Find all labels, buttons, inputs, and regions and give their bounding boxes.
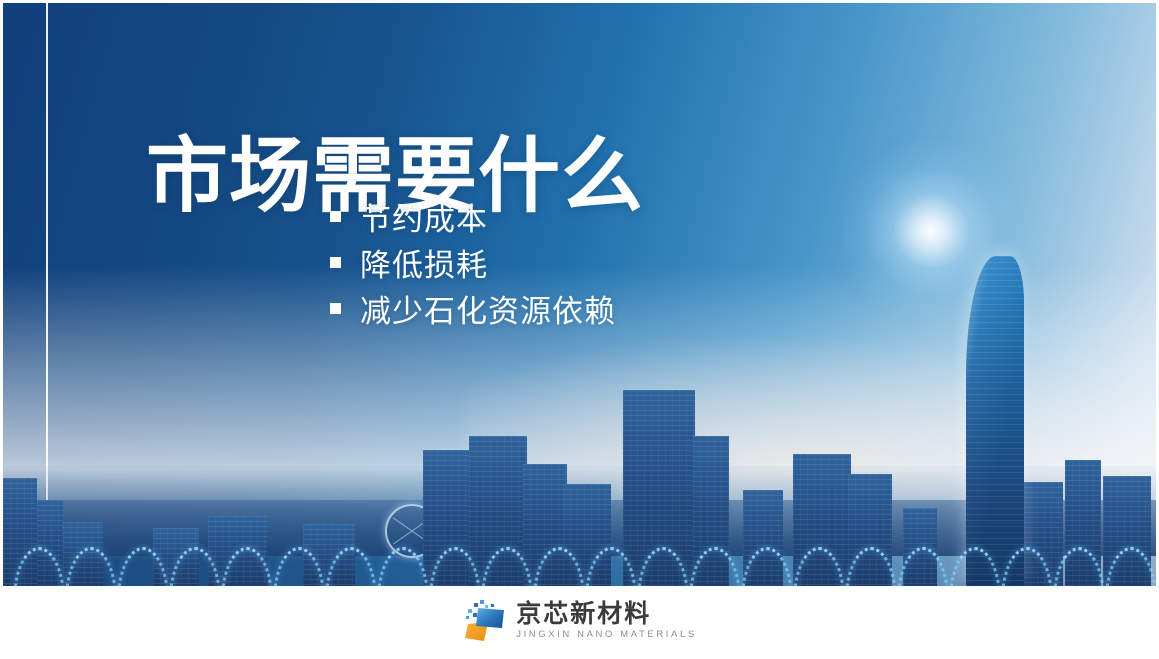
bullet-label: 节约成本 xyxy=(360,194,488,239)
list-item: 降低损耗 xyxy=(330,239,616,285)
bullet-label: 降低损耗 xyxy=(360,240,488,285)
square-bullet-icon xyxy=(330,303,341,314)
cityscape xyxy=(3,356,1156,586)
list-item: 减少石化资源依赖 xyxy=(330,285,616,331)
logo-text-block: 京芯新材料 JINGXIN NANO MATERIALS xyxy=(516,601,697,642)
square-bullet-icon xyxy=(330,211,341,222)
bullet-list: 节约成本 降低损耗 减少石化资源依赖 xyxy=(330,193,616,331)
presentation-slide: 市场需要什么 节约成本 降低损耗 减少石化资源依赖 xyxy=(0,0,1159,659)
glowing-dot-arcs xyxy=(3,494,1156,586)
company-logo: 京芯新材料 JINGXIN NANO MATERIALS xyxy=(462,600,697,642)
jingxin-logo-mark-icon xyxy=(462,600,506,642)
square-bullet-icon xyxy=(330,257,341,268)
slide-footer: 京芯新材料 JINGXIN NANO MATERIALS xyxy=(3,586,1156,656)
logo-company-name-en: JINGXIN NANO MATERIALS xyxy=(516,629,697,641)
list-item: 节约成本 xyxy=(330,193,616,239)
slide-background-image: 市场需要什么 节约成本 降低损耗 减少石化资源依赖 xyxy=(3,3,1156,586)
logo-company-name-cn: 京芯新材料 xyxy=(516,601,697,627)
bullet-label: 减少石化资源依赖 xyxy=(360,286,616,331)
